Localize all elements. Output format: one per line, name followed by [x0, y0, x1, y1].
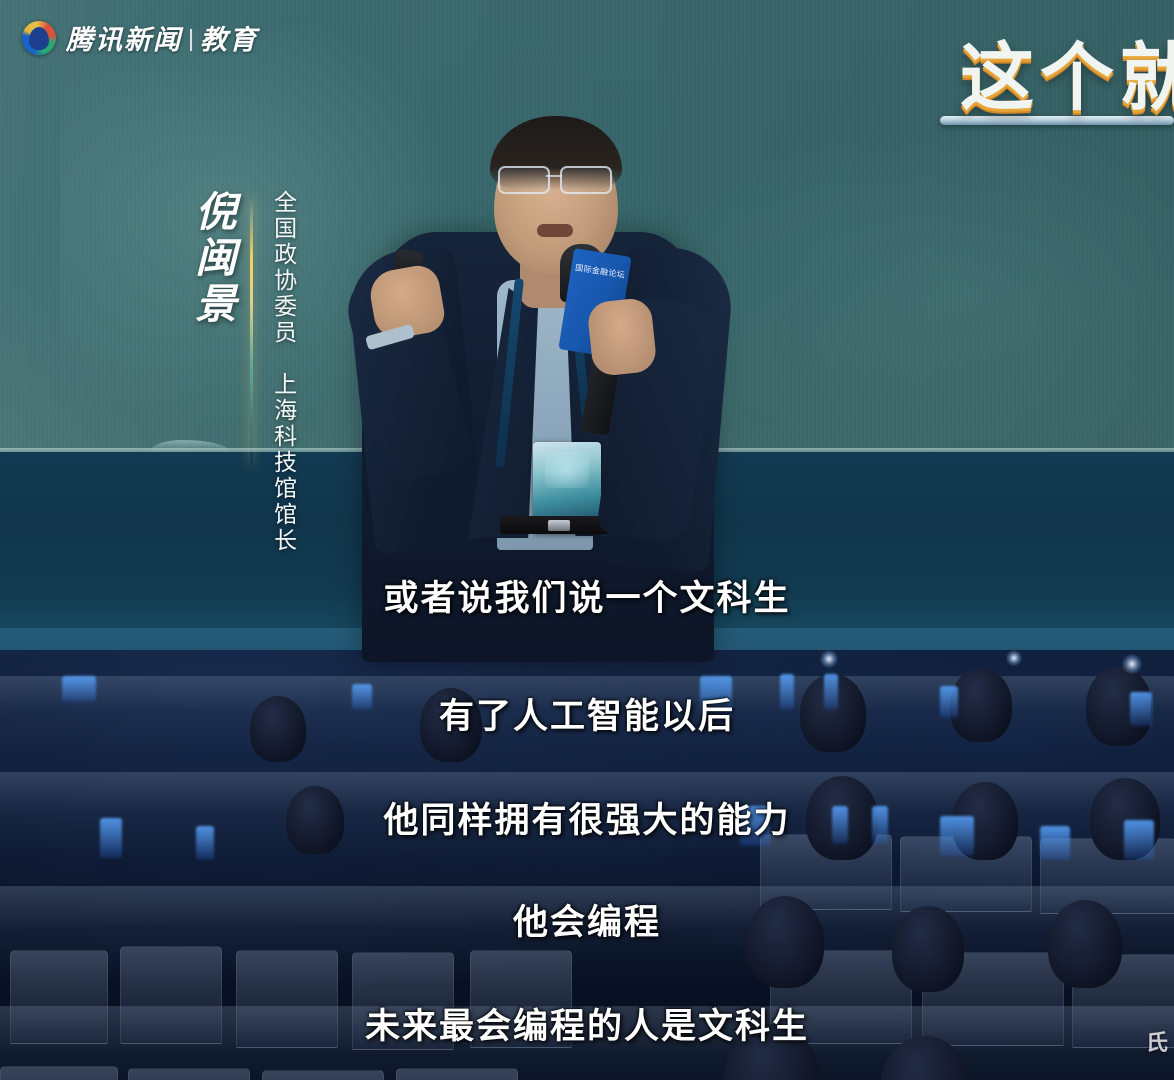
- brand-channel: 教育: [200, 25, 258, 55]
- subtitle-line: 或者说我们说一个文科生: [0, 570, 1174, 621]
- hand-right: [586, 297, 657, 377]
- subtitle-line: 他同样拥有很强大的能力: [0, 792, 1174, 843]
- lens-right: [560, 166, 612, 194]
- speaker-title-line-2: 上海科技馆馆长: [271, 372, 297, 554]
- mouth: [537, 224, 573, 237]
- ceiling-light: [820, 650, 838, 668]
- seat: [128, 1068, 250, 1080]
- ceiling-light: [1122, 654, 1142, 674]
- watermark-glyph: 氏: [1146, 1032, 1172, 1054]
- subtitle-line: 他会编程: [0, 894, 1174, 945]
- eyeglasses-icon: [498, 166, 614, 192]
- stage-screen-headline: 这个就: [960, 18, 1174, 125]
- seat: [0, 1066, 118, 1080]
- ceiling-light: [1006, 650, 1022, 666]
- brand-name: 腾讯新闻: [66, 25, 182, 55]
- subtitle-line: 未来最会编程的人是文科生: [0, 998, 1174, 1049]
- seat: [262, 1070, 384, 1080]
- corner-watermark: 氏: [1146, 1032, 1172, 1066]
- speaker-title: 全国政协委员 上海科技馆馆长: [269, 190, 298, 554]
- channel-logo: 腾讯新闻教育: [22, 18, 258, 57]
- lens-left: [498, 166, 550, 194]
- speaker-name-card: 倪闽景 全国政协委员 上海科技馆馆长: [190, 190, 298, 554]
- brand-wordmark: 腾讯新闻教育: [66, 18, 258, 57]
- subtitle-line: 有了人工智能以后: [0, 688, 1174, 739]
- badge-highlight: [545, 452, 589, 488]
- seat: [396, 1068, 518, 1080]
- speaker-title-line-1: 全国政协委员: [271, 190, 297, 346]
- tencent-qq-penguin-icon: [22, 21, 56, 55]
- brand-divider: [190, 29, 192, 51]
- speaker-name: 倪闽景: [190, 190, 232, 328]
- name-card-divider: [250, 196, 253, 464]
- video-frame: 国际金融论坛 这个就 腾讯新闻教育 倪闽景 全国政协委员 上海科技馆馆长 或者说…: [0, 0, 1174, 1080]
- belt-buckle: [548, 520, 570, 531]
